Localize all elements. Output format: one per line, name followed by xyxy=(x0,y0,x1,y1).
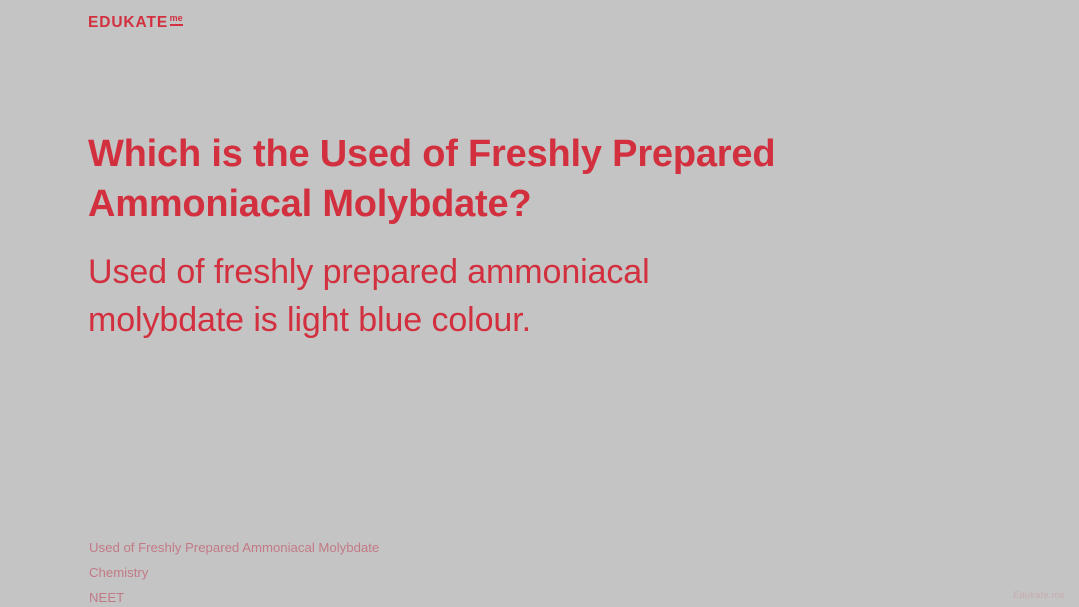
slide-answer-body: Used of freshly prepared ammoniacal moly… xyxy=(88,248,918,344)
corner-watermark: Edukate.me xyxy=(1013,590,1065,600)
metadata-exam: NEET xyxy=(89,585,379,607)
brand-logo-superscript: me xyxy=(170,14,183,23)
heading-line-1: Which is the Used of Freshly Prepared xyxy=(88,129,918,179)
body-line-1: Used of freshly prepared ammoniacal xyxy=(88,248,918,296)
body-line-2: molybdate is light blue colour. xyxy=(88,296,918,344)
brand-logo[interactable]: EDUKATE me xyxy=(88,15,183,31)
metadata-subject: Chemistry xyxy=(89,560,379,585)
slide-question-heading: Which is the Used of Freshly Prepared Am… xyxy=(88,129,918,229)
slide-metadata-footer: Used of Freshly Prepared Ammoniacal Moly… xyxy=(89,535,379,607)
slide-canvas: EDUKATE me Which is the Used of Freshly … xyxy=(0,0,1079,607)
brand-logo-word: EDUKATE xyxy=(88,15,168,31)
heading-line-2: Ammoniacal Molybdate? xyxy=(88,179,918,229)
metadata-topic: Used of Freshly Prepared Ammoniacal Moly… xyxy=(89,535,379,560)
